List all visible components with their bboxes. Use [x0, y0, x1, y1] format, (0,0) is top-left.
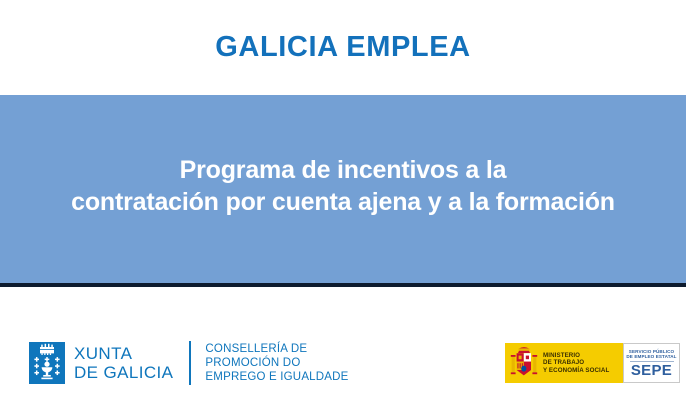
xunta-wordmark-line-2: DE GALICIA	[74, 363, 173, 382]
poster-page: GALICIA EMPLEA Programa de incentivos a …	[0, 0, 686, 410]
sepe-acronym: SEPE	[631, 363, 672, 378]
ministerio-wordmark: MINISTERIO DE TRABAJO Y ECONOMÍA SOCIAL	[543, 352, 609, 375]
xunta-wordmark: XUNTA DE GALICIA	[74, 344, 173, 382]
xunta-wordmark-line-1: XUNTA	[74, 344, 173, 363]
ministerio-line-2: DE TRABAJO	[543, 359, 609, 367]
xunta-coat-of-arms-icon	[29, 342, 65, 384]
banner-line-2: contratación por cuenta ajena y a la for…	[23, 186, 663, 218]
conselleria-line-2: PROMOCIÓN DO	[205, 356, 348, 370]
logo-divider	[189, 341, 191, 385]
sepe-logo: SERVICIO PÚBLICO DE EMPLEO ESTATAL SEPE	[623, 343, 680, 383]
sepe-subtitle: SERVICIO PÚBLICO DE EMPLEO ESTATAL	[626, 349, 676, 360]
conselleria-name: CONSELLERÍA DE PROMOCIÓN DO EMPREGO E IG…	[205, 342, 348, 384]
spain-coat-of-arms-icon	[509, 346, 539, 380]
sepe-subtitle-line-2: DE EMPLEO ESTATAL	[626, 354, 676, 360]
banner-line-1: Programa de incentivos a la	[23, 154, 663, 186]
footer-band: XUNTA DE GALICIA CONSELLERÍA DE PROMOCIÓ…	[0, 287, 686, 410]
ministerio-line-1: MINISTERIO	[543, 352, 609, 360]
conselleria-line-1: CONSELLERÍA DE	[205, 342, 348, 356]
xunta-de-galicia-logo: XUNTA DE GALICIA CONSELLERÍA DE PROMOCIÓ…	[29, 341, 349, 385]
header-band: GALICIA EMPLEA	[0, 0, 686, 95]
ministerio-de-trabajo-logo: MINISTERIO DE TRABAJO Y ECONOMÍA SOCIAL	[505, 343, 623, 383]
conselleria-line-3: EMPREGO E IGUALDADE	[205, 370, 348, 384]
page-title: GALICIA EMPLEA	[215, 31, 470, 64]
program-banner: Programa de incentivos a la contratación…	[0, 95, 686, 283]
ministerio-line-3: Y ECONOMÍA SOCIAL	[543, 367, 609, 375]
banner-text-block: Programa de incentivos a la contratación…	[23, 154, 663, 218]
ministry-sepe-logo-group: MINISTERIO DE TRABAJO Y ECONOMÍA SOCIAL …	[505, 343, 680, 383]
